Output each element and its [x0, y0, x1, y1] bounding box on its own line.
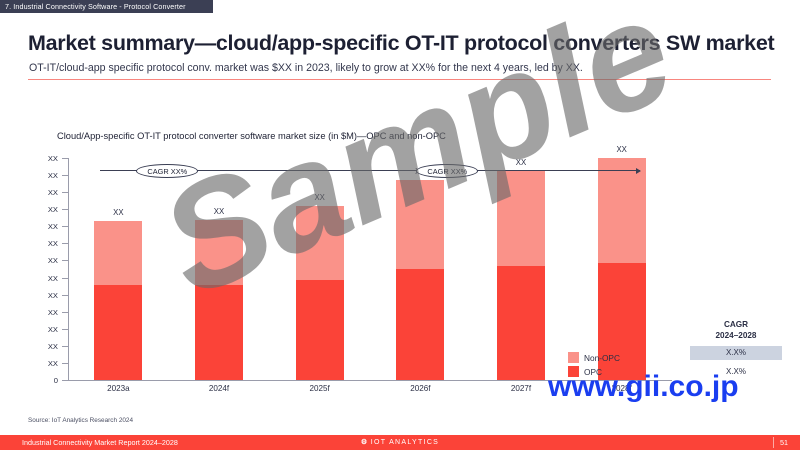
bar-segment-opc	[296, 280, 344, 380]
footer-divider	[773, 437, 774, 448]
footer-page-number: 51	[780, 435, 788, 450]
bar-segment-non-opc	[94, 221, 142, 284]
cagr-panel-rows: X.X%X.X%	[690, 346, 782, 379]
y-axis-tick	[62, 226, 68, 227]
bar-value-label: XX	[184, 207, 254, 216]
y-axis-tick	[62, 175, 68, 176]
y-axis-label: XX	[36, 239, 58, 248]
legend-item[interactable]: OPC	[568, 366, 620, 377]
y-axis-tick	[62, 312, 68, 313]
cagr-summary-panel: CAGR 2024–2028 X.X%X.X%	[690, 320, 782, 379]
bar-segment-non-opc	[497, 171, 545, 266]
legend-swatch-icon	[568, 366, 579, 377]
x-axis-label: 2024f	[184, 384, 254, 393]
bar-segment-non-opc	[396, 180, 444, 269]
y-axis-label: XX	[36, 171, 58, 180]
bar-column	[598, 158, 646, 380]
footer-brand-label: IOT ANALYTICS	[371, 439, 439, 446]
cagr-value-cell: X.X%	[690, 365, 782, 379]
y-axis-tick	[62, 278, 68, 279]
bar-segment-non-opc	[598, 158, 646, 263]
source-note: Source: IoT Analytics Research 2024	[28, 417, 133, 424]
y-axis-tick	[62, 209, 68, 210]
y-axis-tick	[62, 260, 68, 261]
y-axis-label: XX	[36, 222, 58, 231]
cagr-panel-header-line2: 2024–2028	[690, 331, 782, 342]
bar-column	[94, 221, 142, 380]
y-axis-label: XX	[36, 359, 58, 368]
y-axis-tick	[62, 192, 68, 193]
footer-brand: ⚙ IOT ANALYTICS	[0, 435, 800, 450]
legend-label: OPC	[584, 367, 602, 377]
cagr-arrow-label: CAGR XX%	[416, 164, 478, 178]
bar-segment-non-opc	[296, 206, 344, 281]
y-axis-tick	[62, 363, 68, 364]
y-axis-label: XX	[36, 274, 58, 283]
bar-column	[195, 220, 243, 380]
title-divider	[28, 79, 771, 80]
y-axis-label: XX	[36, 205, 58, 214]
bar-segment-opc	[497, 266, 545, 380]
bar-value-label: XX	[285, 193, 355, 202]
cagr-arrow-label: CAGR XX%	[136, 164, 198, 178]
y-axis-label: XX	[36, 342, 58, 351]
cagr-value-cell: X.X%	[690, 346, 782, 360]
y-axis-label: XX	[36, 291, 58, 300]
legend-label: Non-OPC	[584, 353, 620, 363]
y-axis-tick	[62, 346, 68, 347]
y-axis-line	[68, 158, 69, 380]
x-axis-label: 2025f	[285, 384, 355, 393]
bar-value-label: XX	[587, 145, 657, 154]
bar-column	[296, 206, 344, 380]
page-footer: Industrial Connectivity Market Report 20…	[0, 435, 800, 450]
bar-value-label: XX	[83, 208, 153, 217]
y-axis-tick	[62, 380, 68, 381]
y-axis-label: XX	[36, 308, 58, 317]
page-title: Market summary—cloud/app-specific OT-IT …	[28, 31, 774, 56]
bar-segment-opc	[94, 285, 142, 380]
bar-segment-opc	[195, 285, 243, 380]
x-axis-label: 2026f	[385, 384, 455, 393]
iot-analytics-logo-icon: ⚙	[361, 439, 368, 446]
cagr-panel-header-line1: CAGR	[690, 320, 782, 331]
y-axis-tick	[62, 329, 68, 330]
y-axis-tick	[62, 295, 68, 296]
x-axis-label: 2027f	[486, 384, 556, 393]
x-axis-label: 2028f	[587, 384, 657, 393]
bar-column	[396, 180, 444, 380]
bar-segment-opc	[396, 269, 444, 380]
y-axis-tick	[62, 243, 68, 244]
y-axis-label: XX	[36, 154, 58, 163]
legend-swatch-icon	[568, 352, 579, 363]
y-axis-tick	[62, 158, 68, 159]
cagr-arrow-head-icon	[636, 168, 641, 174]
page-subtitle: OT-IT/cloud-app specific protocol conv. …	[29, 62, 583, 74]
chapter-tab: 7. Industrial Connectivity Software - Pr…	[0, 0, 213, 13]
bar-segment-non-opc	[195, 220, 243, 285]
y-axis-label: 0	[36, 376, 58, 385]
x-axis-label: 2023a	[83, 384, 153, 393]
slide-page: 7. Industrial Connectivity Software - Pr…	[0, 0, 800, 450]
bar-value-label: XX	[486, 158, 556, 167]
y-axis-label: XX	[36, 256, 58, 265]
legend-item[interactable]: Non-OPC	[568, 352, 620, 363]
chart-title: Cloud/App-specific OT-IT protocol conver…	[57, 131, 446, 141]
y-axis-label: XX	[36, 188, 58, 197]
chart-legend: Non-OPCOPC	[568, 352, 620, 380]
y-axis-label: XX	[36, 325, 58, 334]
bar-column	[497, 171, 545, 380]
